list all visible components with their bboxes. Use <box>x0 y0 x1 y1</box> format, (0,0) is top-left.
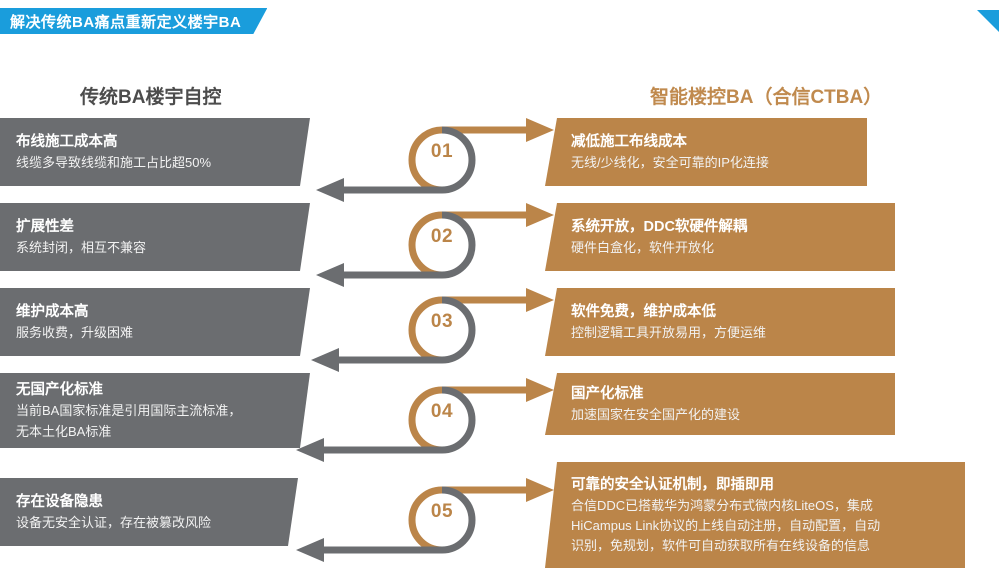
pain-point-detail: 系统封闭，相互不兼容 <box>16 238 294 258</box>
pain-point-title: 无国产化标准 <box>16 380 294 401</box>
solution-title: 系统开放，DDC软硬件解耦 <box>571 217 879 238</box>
column-heading-left: 传统BA楼宇自控 <box>80 82 221 109</box>
corner-triangle-decoration <box>977 10 999 32</box>
pain-point-title: 维护成本高 <box>16 302 294 323</box>
solution-detail: 硬件白盒化，软件开放化 <box>571 238 879 258</box>
solution-title: 可靠的安全认证机制，即插即用 <box>571 475 949 496</box>
banner-title: 解决传统BA痛点重新定义楼宇BA <box>10 11 241 32</box>
solution-title: 国产化标准 <box>571 384 879 405</box>
pain-point-detail: 线缆多导致线缆和施工占比超50% <box>16 153 294 173</box>
step-number-badge: 02 <box>412 226 472 248</box>
pain-point-box: 布线施工成本高 线缆多导致线缆和施工占比超50% <box>0 118 310 186</box>
step-number-badge: 01 <box>412 141 472 163</box>
pain-point-box: 维护成本高 服务收费，升级困难 <box>0 288 310 356</box>
pain-point-title: 布线施工成本高 <box>16 132 294 153</box>
step-number-badge: 03 <box>412 311 472 333</box>
solution-detail: 控制逻辑工具开放易用，方便运维 <box>571 323 879 343</box>
solution-box: 可靠的安全认证机制，即插即用 合信DDC已搭载华为鸿蒙分布式微内核LiteOS，… <box>545 462 965 568</box>
solution-box: 系统开放，DDC软硬件解耦 硬件白盒化，软件开放化 <box>545 203 895 271</box>
column-heading-right: 智能楼控BA（合信CTBA） <box>650 82 882 109</box>
page-banner: 解决传统BA痛点重新定义楼宇BA <box>0 8 267 34</box>
pain-point-title: 扩展性差 <box>16 217 294 238</box>
solution-box: 减低施工布线成本 无线/少线化，安全可靠的IP化连接 <box>545 118 867 186</box>
pain-point-title: 存在设备隐患 <box>16 492 282 513</box>
solution-detail: 合信DDC已搭载华为鸿蒙分布式微内核LiteOS，集成 HiCampus Lin… <box>571 496 949 556</box>
solution-title: 软件免费，维护成本低 <box>571 302 879 323</box>
pain-point-detail: 服务收费，升级困难 <box>16 323 294 343</box>
pain-point-detail: 设备无安全认证，存在被篡改风险 <box>16 513 282 533</box>
solution-detail: 无线/少线化，安全可靠的IP化连接 <box>571 153 851 173</box>
solution-title: 减低施工布线成本 <box>571 132 851 153</box>
pain-point-box: 无国产化标准 当前BA国家标准是引用国际主流标准， 无本土化BA标准 <box>0 373 310 448</box>
solution-box: 软件免费，维护成本低 控制逻辑工具开放易用，方便运维 <box>545 288 895 356</box>
step-number-badge: 05 <box>412 501 472 523</box>
step-number-badge: 04 <box>412 401 472 423</box>
pain-point-box: 扩展性差 系统封闭，相互不兼容 <box>0 203 310 271</box>
pain-point-box: 存在设备隐患 设备无安全认证，存在被篡改风险 <box>0 478 298 546</box>
pain-point-detail: 当前BA国家标准是引用国际主流标准， 无本土化BA标准 <box>16 401 294 441</box>
solution-box: 国产化标准 加速国家在安全国产化的建设 <box>545 373 895 435</box>
solution-detail: 加速国家在安全国产化的建设 <box>571 405 879 425</box>
